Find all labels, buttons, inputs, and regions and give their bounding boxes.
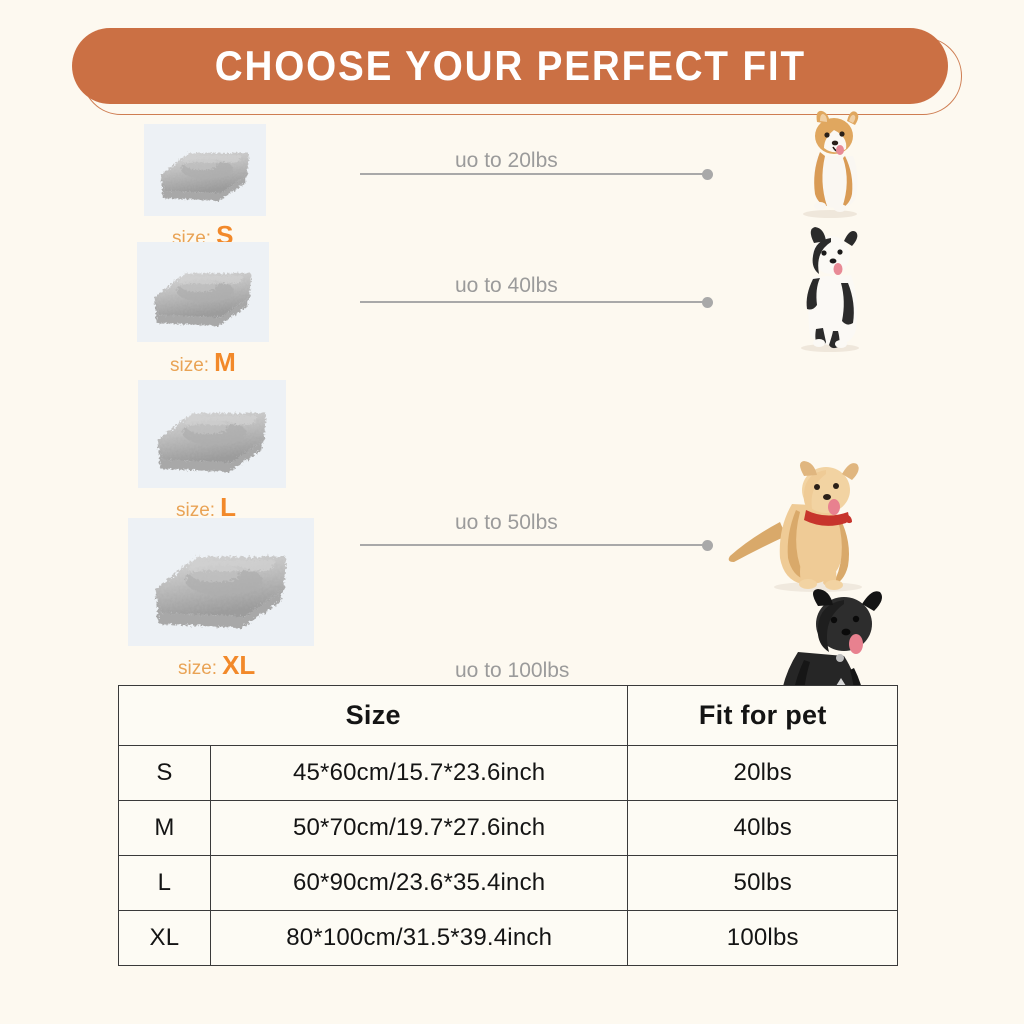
header-banner: CHOOSE YOUR PERFECT FIT <box>72 28 952 110</box>
border-collie-icon <box>786 225 870 353</box>
cell-fit: 40lbs <box>628 801 898 856</box>
size-caption-xl: size:XL <box>178 652 255 678</box>
table-row: L 60*90cm/23.6*35.4inch 50lbs <box>119 856 898 911</box>
header-fit-for-pet: Fit for pet <box>628 686 898 746</box>
dog-photo-corgi <box>790 110 866 218</box>
pet-bed-icon <box>131 524 311 640</box>
pet-bed-icon <box>140 249 266 335</box>
table-row: XL 80*100cm/31.5*39.4inch 100lbs <box>119 911 898 966</box>
cell-size-letter: S <box>119 746 211 801</box>
connector-line-m <box>360 301 708 303</box>
cell-dimensions: 80*100cm/31.5*39.4inch <box>210 911 628 966</box>
connector-dot-m <box>702 297 713 308</box>
comparison-row-m: size:M uo to 40lbs <box>0 237 1024 372</box>
cell-dimensions: 50*70cm/19.7*27.6inch <box>210 801 628 856</box>
cell-size-letter: XL <box>119 911 211 966</box>
comparison-section: size:S uo to 20lbs <box>0 112 1024 674</box>
header-size: Size <box>119 686 628 746</box>
corgi-icon <box>790 110 866 218</box>
cell-fit: 100lbs <box>628 911 898 966</box>
bed-thumbnail-m <box>137 242 269 342</box>
weight-label-s: uo to 20lbs <box>455 150 558 171</box>
page-title: CHOOSE YOUR PERFECT FIT <box>214 45 805 87</box>
banner-pill: CHOOSE YOUR PERFECT FIT <box>72 28 948 104</box>
size-chart-page: CHOOSE YOUR PERFECT FIT <box>0 0 1024 1024</box>
pet-bed-icon <box>149 131 261 209</box>
table-row: S 45*60cm/15.7*23.6inch 20lbs <box>119 746 898 801</box>
comparison-row-l: size:L uo to 50lbs <box>0 372 1024 517</box>
pet-bed-icon <box>141 386 283 482</box>
comparison-row-xl: size:XL uo to 100lbs <box>0 500 1024 670</box>
size-letter-label: XL <box>222 650 255 680</box>
size-word-label: size: <box>178 658 217 679</box>
bed-thumbnail-s <box>144 124 266 216</box>
cell-dimensions: 45*60cm/15.7*23.6inch <box>210 746 628 801</box>
cell-size-letter: L <box>119 856 211 911</box>
comparison-row-s: size:S uo to 20lbs <box>0 112 1024 237</box>
weight-label-xl: uo to 100lbs <box>455 660 569 681</box>
size-table: Size Fit for pet S 45*60cm/15.7*23.6inch… <box>118 685 898 966</box>
bed-thumbnail-l <box>138 380 286 488</box>
cell-fit: 50lbs <box>628 856 898 911</box>
connector-dot-s <box>702 169 713 180</box>
cell-dimensions: 60*90cm/23.6*35.4inch <box>210 856 628 911</box>
cell-fit: 20lbs <box>628 746 898 801</box>
bed-thumbnail-xl <box>128 518 314 646</box>
table-row: M 50*70cm/19.7*27.6inch 40lbs <box>119 801 898 856</box>
connector-line-s <box>360 173 708 175</box>
cell-size-letter: M <box>119 801 211 856</box>
table-header-row: Size Fit for pet <box>119 686 898 746</box>
dog-photo-border-collie <box>786 225 870 353</box>
weight-label-m: uo to 40lbs <box>455 275 558 296</box>
